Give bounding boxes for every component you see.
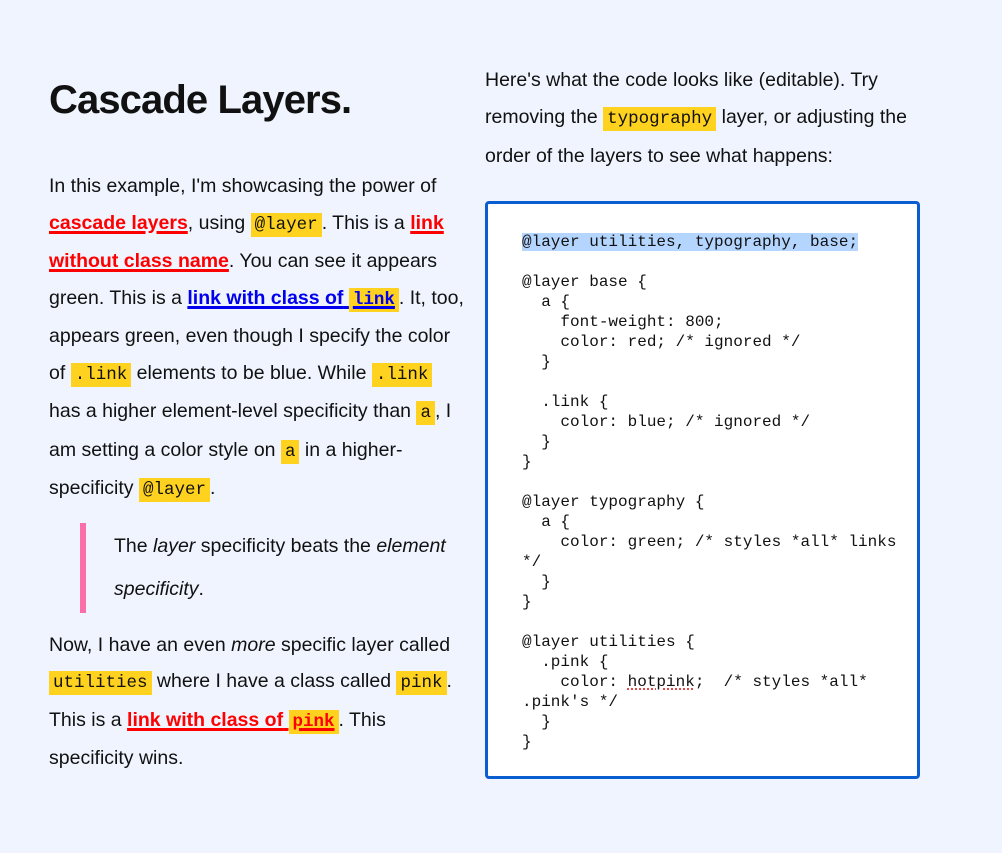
text-fragment: where I have a class called — [152, 670, 397, 692]
code-dot-link-1: .link — [71, 363, 132, 387]
right-column: Here's what the code looks like (editabl… — [468, 0, 1002, 853]
code-link-class: link — [349, 288, 399, 312]
text-fragment: . — [199, 578, 204, 600]
code-typography: typography — [603, 107, 716, 131]
code-pink-1: pink — [396, 671, 446, 695]
code-editor-panel[interactable]: @layer utilities, typography, base; @lay… — [485, 201, 920, 779]
code-at-layer-2: @layer — [139, 478, 210, 502]
closing-paragraph: Now, I have an even more specific layer … — [49, 627, 468, 777]
code-editor-content[interactable]: @layer utilities, typography, base; @lay… — [522, 232, 903, 752]
emphasis-layer: layer — [153, 535, 195, 557]
link-with-class-of-link[interactable]: link with class of link — [187, 287, 398, 309]
text-fragment: has a higher element-level specificity t… — [49, 400, 416, 422]
code-a-selector-2: a — [281, 440, 300, 464]
text-fragment: The — [114, 535, 153, 557]
code-dot-link-2: .link — [372, 363, 433, 387]
text-fragment: , using — [188, 212, 251, 234]
spellcheck-flagged-word[interactable]: hotpink — [628, 673, 695, 691]
link-label: link with class of — [127, 709, 283, 731]
code-at-layer: @layer — [251, 213, 322, 237]
text-fragment: . — [210, 477, 215, 499]
link-cascade-layers[interactable]: cascade layers — [49, 212, 188, 234]
selected-code-line[interactable]: @layer utilities, typography, base; — [522, 233, 858, 251]
code-body-part-1[interactable]: @layer base { a { font-weight: 800; colo… — [522, 273, 906, 691]
code-pink-class: pink — [289, 710, 339, 734]
link-with-class-of-pink[interactable]: link with class of pink — [127, 709, 338, 731]
text-fragment: . This is a — [322, 212, 411, 234]
blockquote-note: The layer specificity beats the element … — [80, 523, 468, 613]
text-fragment: elements to be blue. While — [131, 362, 372, 384]
page-title: Cascade Layers. — [49, 78, 468, 122]
emphasis-more: more — [231, 634, 275, 656]
code-utilities: utilities — [49, 671, 152, 695]
page-root: Cascade Layers. In this example, I'm sho… — [0, 0, 1002, 853]
code-intro-paragraph: Here's what the code looks like (editabl… — [485, 62, 952, 175]
code-a-selector-1: a — [416, 401, 435, 425]
text-fragment: specificity beats the — [195, 535, 376, 557]
left-column: Cascade Layers. In this example, I'm sho… — [0, 0, 468, 853]
text-fragment: In this example, I'm showcasing the powe… — [49, 175, 436, 197]
link-label: link with class of — [187, 287, 343, 309]
intro-paragraph: In this example, I'm showcasing the powe… — [49, 168, 468, 509]
text-fragment: specific layer called — [276, 634, 451, 656]
text-fragment: Now, I have an even — [49, 634, 231, 656]
